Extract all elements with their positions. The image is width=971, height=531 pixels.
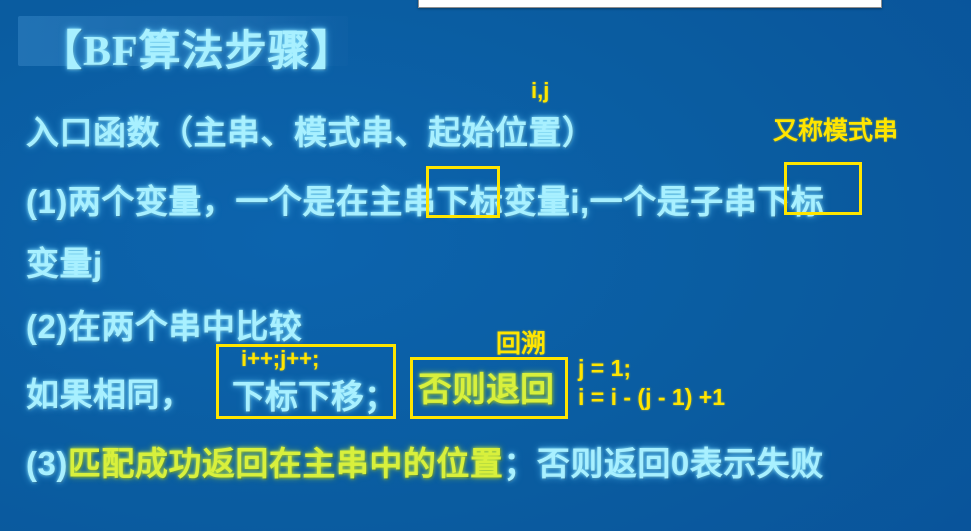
index-advance-text: 下标下移； bbox=[232, 370, 397, 418]
annotation-increment: i++;j++; bbox=[241, 346, 319, 372]
step-3-remaining-text: ；否则返回0表示失败 bbox=[503, 445, 823, 482]
entry-function-line: 入口函数（主串、模式串、起始位置） bbox=[26, 106, 596, 154]
annotation-equation-j: j = 1; bbox=[578, 355, 631, 382]
step-3-highlighted-text: 匹配成功返回在主串中的位置 bbox=[68, 445, 504, 482]
step-3-number: (3) bbox=[26, 445, 68, 482]
annotation-backtrack: 回溯 bbox=[496, 324, 546, 360]
highlight-box-sub-string bbox=[784, 162, 862, 215]
step-3-line: (3)匹配成功返回在主串中的位置；否则返回0表示失败 bbox=[26, 437, 824, 485]
page-title: 【BF算法步骤】 bbox=[40, 17, 354, 78]
otherwise-retreat-text: 否则退回 bbox=[418, 362, 554, 411]
step-1-boxed-sub-string: 子串 bbox=[690, 183, 757, 220]
step-1-line-b: 变量j bbox=[26, 237, 103, 285]
step-2-line: (2)在两个串中比较 bbox=[26, 300, 302, 348]
highlight-box-main-string bbox=[426, 166, 500, 218]
annotation-also-called-pattern: 又称模式串 bbox=[773, 111, 898, 147]
presentation-slide: 【BF算法步骤】 入口函数（主串、模式串、起始位置） (1)两个变量，一个是在主… bbox=[0, 0, 971, 531]
background-window-strip bbox=[418, 0, 882, 8]
annotation-equation-i: i = i - (j - 1) +1 bbox=[578, 384, 725, 411]
step-2-line-2-prefix: 如果相同， bbox=[26, 368, 194, 416]
step-1-prefix: (1)两个变量，一个是在 bbox=[26, 183, 369, 220]
annotation-ij: i,j bbox=[531, 78, 549, 104]
